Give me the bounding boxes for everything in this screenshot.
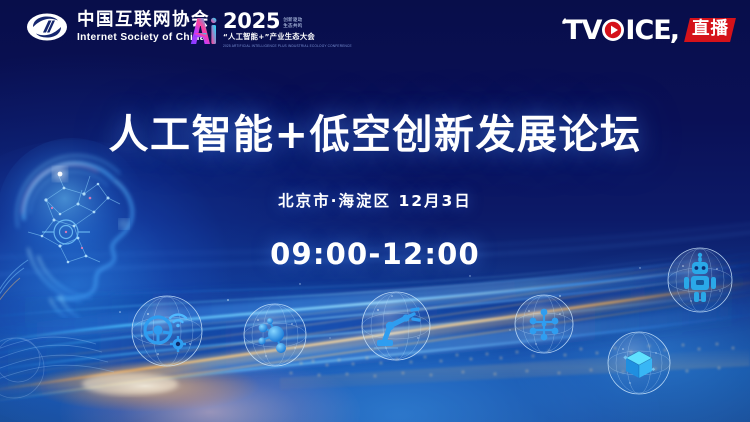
ai-logo-tiny-2: 生态共鸣	[283, 24, 302, 29]
ai-logo-text: 2025 创新驱动 生态共鸣 “人工智能+”产业生态大会 2025 ARTIFI…	[223, 12, 352, 48]
tvoice-wordmark: ‘ T V ICE ,	[561, 17, 679, 44]
molecule-bubble-icon	[240, 300, 310, 370]
isc-oval-logo-icon	[26, 12, 68, 42]
ai-logo-tiny-1: 创新驱动	[283, 18, 302, 23]
ai-wireframe-head-icon	[0, 128, 174, 318]
blockchain-cube-bubble-icon	[604, 328, 674, 398]
tvoice-logo[interactable]: ‘ T V ICE , 直播	[561, 14, 736, 46]
network-node-bubble-icon	[512, 292, 576, 356]
isc-logo[interactable]: 中国互联网协会 Internet Society of China	[26, 12, 210, 43]
live-badge[interactable]: 直播	[684, 18, 736, 43]
tvoice-letter-t: T	[564, 17, 581, 44]
tvoice-letter-v: V	[582, 17, 602, 44]
event-banner: 中国互联网协会 Internet Society of China	[0, 0, 750, 422]
robot-bubble-icon	[664, 244, 736, 316]
ai-logo-subtitle: “人工智能+”产业生态大会	[223, 32, 352, 42]
tvoice-comma: ,	[670, 17, 679, 44]
smart-vehicle-bubble-icon	[128, 292, 206, 370]
banner-header: 中国互联网协会 Internet Society of China	[0, 0, 750, 62]
ai-logo-tiny-lines: 创新驱动 生态共鸣	[283, 18, 302, 31]
play-button-icon	[601, 18, 625, 42]
ai-logo-micro-en: 2025 ARTIFICIAL INTELLIGENCE PLUS INDUST…	[223, 44, 352, 48]
robot-arm-bubble-icon	[358, 288, 434, 364]
ai-conference-logo[interactable]: 2025 创新驱动 生态共鸣 “人工智能+”产业生态大会 2025 ARTIFI…	[188, 11, 352, 49]
tvoice-letters-ice: ICE	[625, 17, 670, 44]
ai-gradient-glyph-icon	[188, 14, 218, 46]
ai-logo-year: 2025	[223, 12, 280, 31]
